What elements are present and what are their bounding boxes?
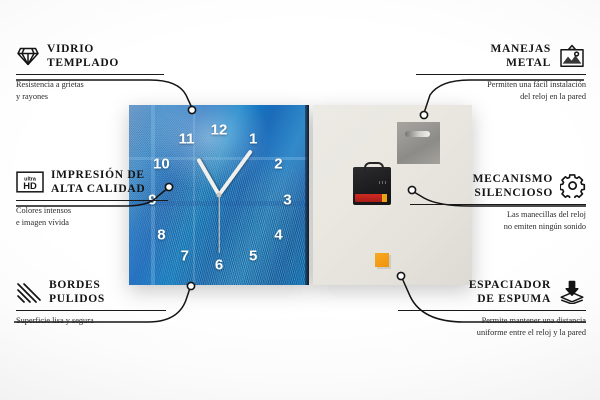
callout-title-line2: DE ESPUMA bbox=[469, 292, 551, 306]
ultra-hd-icon: ultra HD bbox=[16, 171, 44, 193]
clock-numeral: 6 bbox=[215, 258, 223, 273]
callout-mecanismo-silencioso: MECANISMO SILENCIOSO Las manecillas del … bbox=[410, 172, 586, 232]
callout-desc-line1: Permiten una fácil instalación bbox=[416, 79, 586, 90]
gear-icon bbox=[560, 174, 586, 198]
foam-spacer bbox=[375, 253, 389, 267]
clock-numeral: 11 bbox=[179, 132, 195, 147]
callout-title-line2: TEMPLADO bbox=[47, 56, 119, 70]
callout-rule bbox=[16, 200, 168, 201]
polished-edge-icon bbox=[16, 281, 42, 303]
callout-desc-line2: e imagen vívida bbox=[16, 217, 168, 228]
infographic-canvas: 12 1 2 3 4 5 6 7 8 9 10 11 bbox=[0, 0, 600, 400]
hanger-slot bbox=[405, 131, 430, 137]
callout-rule bbox=[16, 310, 166, 311]
clock-numeral: 12 bbox=[211, 123, 228, 138]
callout-title-line1: MANEJAS bbox=[491, 42, 552, 56]
picture-hanger-icon bbox=[558, 44, 586, 68]
callout-title-line1: VIDRIO bbox=[47, 42, 119, 56]
callout-title-line1: MECANISMO bbox=[473, 172, 553, 186]
callout-rule bbox=[410, 204, 586, 205]
callout-desc-line2: no emiten ningún sonido bbox=[410, 221, 586, 232]
clock-mechanism-box bbox=[353, 167, 391, 205]
battery bbox=[355, 194, 387, 202]
callout-manejas-metal: MANEJAS METAL Permiten una fácil instala… bbox=[416, 42, 586, 102]
callout-vidrio-templado: VIDRIO TEMPLADO Resistencia a grietas y … bbox=[16, 42, 164, 102]
callout-rule bbox=[416, 74, 586, 75]
callout-title-line2: SILENCIOSO bbox=[473, 186, 553, 200]
callout-rule bbox=[398, 310, 586, 311]
glass-edge bbox=[305, 105, 309, 285]
clock-numeral: 1 bbox=[249, 132, 257, 147]
clock-numeral: 3 bbox=[283, 193, 291, 208]
diamond-icon bbox=[16, 45, 40, 67]
callout-desc-line1: Permite mantener una distancia bbox=[398, 315, 586, 326]
callout-desc-line2: uniforme entre el reloj y la pared bbox=[398, 327, 586, 338]
metal-hanger-plate bbox=[397, 122, 440, 164]
callout-desc-line1: Las manecillas del reloj bbox=[410, 209, 586, 220]
callout-desc-line1: Colores intensos bbox=[16, 205, 168, 216]
callout-desc-line1: Superficie lisa y segura bbox=[16, 315, 166, 326]
callout-impresion-alta-calidad: ultra HD IMPRESIÓN DE ALTA CALIDAD Color… bbox=[16, 168, 168, 228]
callout-title-line1: ESPACIADOR bbox=[469, 278, 551, 292]
callout-rule bbox=[16, 74, 164, 75]
callout-espaciador-espuma: ESPACIADOR DE ESPUMA Permite mantener un… bbox=[398, 278, 586, 338]
mechanism-label bbox=[379, 181, 388, 184]
callout-title-line1: BORDES bbox=[49, 278, 105, 292]
clock-numeral: 8 bbox=[157, 227, 165, 242]
callout-bordes-pulidos: BORDES PULIDOS Superficie lisa y segura bbox=[16, 278, 166, 327]
callout-desc-line1: Resistencia a grietas bbox=[16, 79, 164, 90]
callout-desc-line2: del reloj en la pared bbox=[416, 91, 586, 102]
callout-title-line1: IMPRESIÓN DE bbox=[51, 168, 145, 182]
clock-numeral: 7 bbox=[181, 249, 189, 264]
clock-numeral: 4 bbox=[274, 227, 282, 242]
mechanism-loop bbox=[364, 162, 384, 172]
callout-title-line2: ALTA CALIDAD bbox=[51, 182, 145, 196]
clock-second-hand bbox=[218, 195, 219, 253]
callout-desc-line2: y rayones bbox=[16, 91, 164, 102]
callout-title-line2: METAL bbox=[491, 56, 552, 70]
clock-center-pin bbox=[217, 193, 222, 198]
ultra-hd-icon-bottom: HD bbox=[23, 180, 37, 191]
callout-title-line2: PULIDOS bbox=[49, 292, 105, 306]
clock-numeral: 5 bbox=[249, 249, 257, 264]
clock-numeral: 2 bbox=[274, 157, 282, 172]
foam-spacer-icon bbox=[558, 280, 586, 304]
